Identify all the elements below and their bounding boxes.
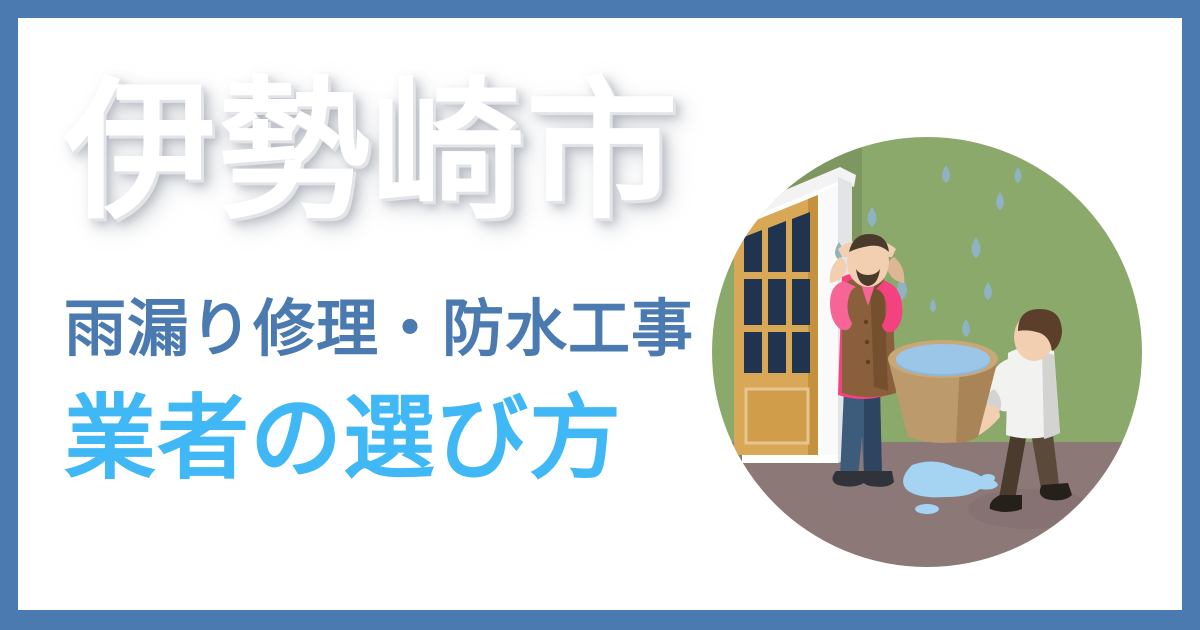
man1-shoe-left xyxy=(832,471,864,487)
door-glass-pane xyxy=(744,279,762,325)
man2-shoe-front xyxy=(1040,483,1072,500)
door-glass-pane xyxy=(768,279,786,325)
door-glass-pane xyxy=(792,279,810,325)
door-lower-panel xyxy=(746,389,808,443)
man2-floor-shadow xyxy=(968,489,1092,529)
water-leak-illustration xyxy=(712,137,1142,567)
illustration-circle-group xyxy=(712,137,1142,567)
door-glass-pane xyxy=(744,230,762,272)
man1-vest-button xyxy=(865,340,869,344)
subtitle-howto-line: 業者の選び方 xyxy=(64,393,622,485)
page-title-city: 伊勢崎市 xyxy=(64,76,680,228)
subtitle-service-line: 雨漏り修理・防水工事 xyxy=(64,298,694,360)
man1-vest-button xyxy=(864,320,868,324)
door-glass-pane xyxy=(744,332,762,373)
door-glass-pane xyxy=(792,212,810,272)
hero-banner: 伊勢崎市 雨漏り修理・防水工事 業者の選び方 xyxy=(0,0,1200,630)
puddle-splash-tiny xyxy=(981,474,995,482)
puddle-splash-small xyxy=(915,504,939,514)
man1-jeans-shadow xyxy=(864,389,882,477)
door-glass-pane xyxy=(768,221,786,272)
banner-card: 伊勢崎市 雨漏り修理・防水工事 業者の選び方 xyxy=(18,18,1182,610)
door-glass-pane xyxy=(792,332,810,373)
door-glass-pane xyxy=(768,332,786,373)
bucket-water-highlight xyxy=(896,344,990,374)
man1-vest-button xyxy=(866,360,870,364)
